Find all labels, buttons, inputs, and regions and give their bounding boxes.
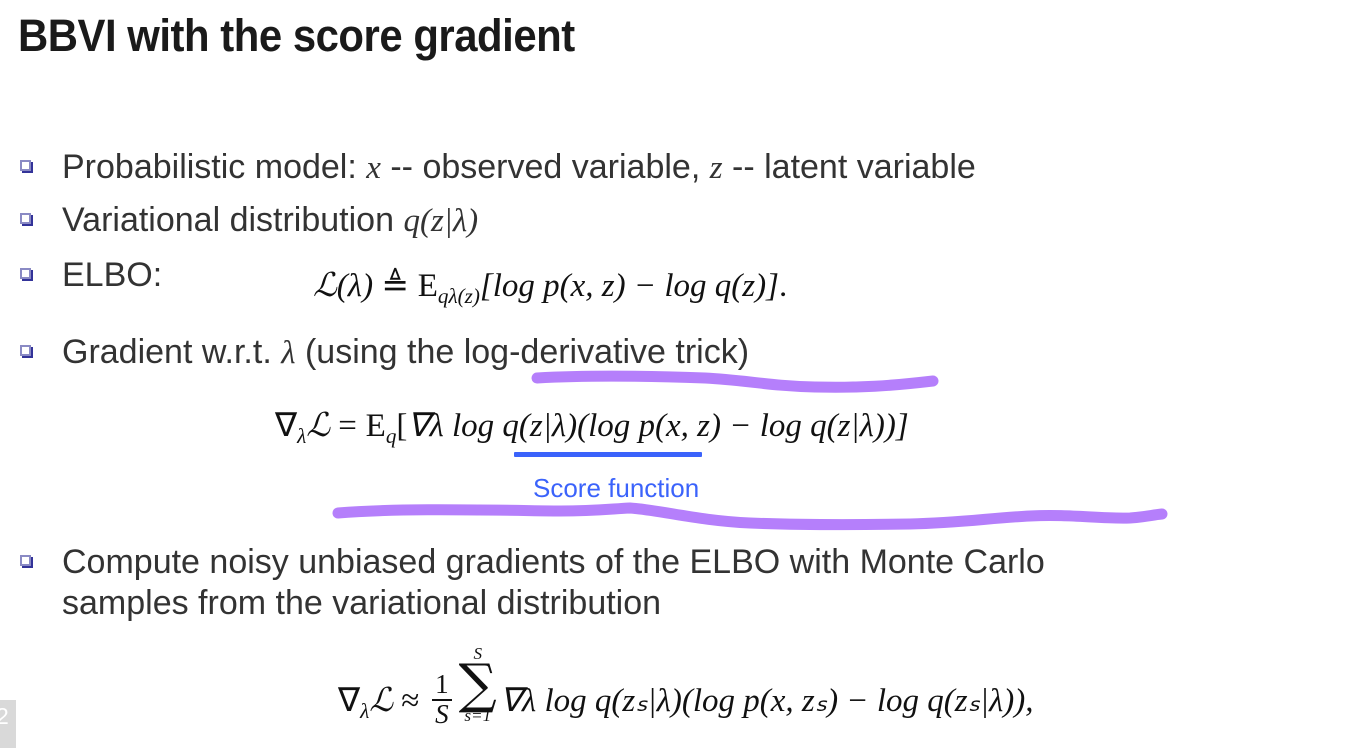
elbo-symbol: ℒ xyxy=(369,680,393,719)
gradient-rest: (log p(x, z) − log q(z|λ))] xyxy=(577,408,909,444)
bullet-gradient: Gradient w.r.t. λ (using the log-derivat… xyxy=(20,332,1270,374)
math-q-z-lambda: q(z|λ) xyxy=(403,203,478,239)
expectation-subscript: q xyxy=(386,424,397,448)
sigma-icon: ∑ xyxy=(459,661,497,707)
bullet-text: Compute noisy unbiased gradients of the … xyxy=(62,542,1045,624)
bullet-text-prefix: Variational distribution xyxy=(62,201,403,239)
bullet-square-icon xyxy=(20,345,33,358)
equation-monte-carlo: ∇λℒ ≈ 1SS∑s=1∇λ log q(zₛ|λ)(log p(x, zₛ)… xyxy=(338,645,1033,728)
elbo-expectation-subscript: qλ(z) xyxy=(438,284,480,308)
bullet-square-icon xyxy=(20,160,33,173)
elbo-relation: ≜ xyxy=(381,268,409,304)
elbo-args: (λ) xyxy=(337,268,373,304)
bullet-text: Probabilistic model: x -- observed varia… xyxy=(62,147,976,189)
open-bracket: [ xyxy=(396,408,407,444)
bullet-square-icon xyxy=(20,268,33,281)
bullet-text: Gradient w.r.t. λ (using the log-derivat… xyxy=(62,332,749,374)
expectation-symbol: E xyxy=(366,408,386,444)
bullet-text-suffix: -- latent variable xyxy=(723,148,976,186)
math-var-z: z xyxy=(710,150,723,186)
page-title: BBVI with the score gradient xyxy=(18,8,575,64)
bullet-text: Variational distribution q(z|λ) xyxy=(62,200,478,242)
score-function-term: ∇λ log q(z|λ) xyxy=(407,408,577,444)
score-function-label: Score function xyxy=(533,473,699,504)
bullet-text-prefix: Gradient w.r.t. xyxy=(62,333,281,371)
bullet-text: ELBO: xyxy=(62,255,162,296)
bullet-text-mid: -- observed variable, xyxy=(381,148,710,186)
relation-approx: ≈ xyxy=(401,683,420,719)
bullet-square-icon xyxy=(20,213,33,226)
bullet-square-icon xyxy=(20,555,33,568)
elbo-symbol: ℒ xyxy=(306,405,330,444)
bullet-text-suffix: (using the log-derivative trick) xyxy=(296,333,750,371)
nabla-subscript: λ xyxy=(297,424,306,448)
bullet-text-line2: samples from the variational distributio… xyxy=(62,584,661,622)
fraction-numerator: 1 xyxy=(432,671,452,699)
nabla-icon: ∇ xyxy=(275,408,297,444)
equation-score-gradient: ∇λℒ = Eq[∇λ log q(z|λ)(log p(x, z) − log… xyxy=(275,405,909,445)
fraction-denominator: S xyxy=(432,699,452,729)
summation-operator: S∑s=1 xyxy=(459,645,497,724)
elbo-body: [log p(x, z) − log q(z)] xyxy=(480,268,779,304)
equation-elbo: ℒ(λ) ≜ Eqλ(z)[log p(x, z) − log q(z)]. xyxy=(313,265,787,305)
sum-lower-limit: s=1 xyxy=(459,707,497,724)
purple-squiggle-annotation xyxy=(330,498,1170,538)
bullet-text-prefix: Probabilistic model: xyxy=(62,148,366,186)
nabla-subscript: λ xyxy=(360,699,369,723)
bullet-probabilistic-model: Probabilistic model: x -- observed varia… xyxy=(20,147,1270,189)
bullet-variational-distribution: Variational distribution q(z|λ) xyxy=(20,200,1270,242)
monte-carlo-body: ∇λ log q(zₛ|λ)(log p(x, zₛ) − log q(zₛ|λ… xyxy=(500,683,1034,719)
nabla-icon: ∇ xyxy=(338,683,360,719)
elbo-trailing-period: . xyxy=(779,268,787,304)
relation-equals: = xyxy=(338,408,357,444)
slide-canvas: BBVI with the score gradient Probabilist… xyxy=(0,0,1347,748)
bullet-text-line1: Compute noisy unbiased gradients of the … xyxy=(62,543,1045,581)
elbo-expectation: E xyxy=(418,268,438,304)
elbo-symbol: ℒ xyxy=(313,265,337,304)
score-function-underline xyxy=(514,452,702,457)
math-var-x: x xyxy=(366,150,381,186)
fraction-one-over-s: 1S xyxy=(432,671,452,728)
bullet-monte-carlo: Compute noisy unbiased gradients of the … xyxy=(20,542,1280,624)
math-var-lambda: λ xyxy=(281,335,295,371)
page-number: 2 xyxy=(0,703,14,730)
